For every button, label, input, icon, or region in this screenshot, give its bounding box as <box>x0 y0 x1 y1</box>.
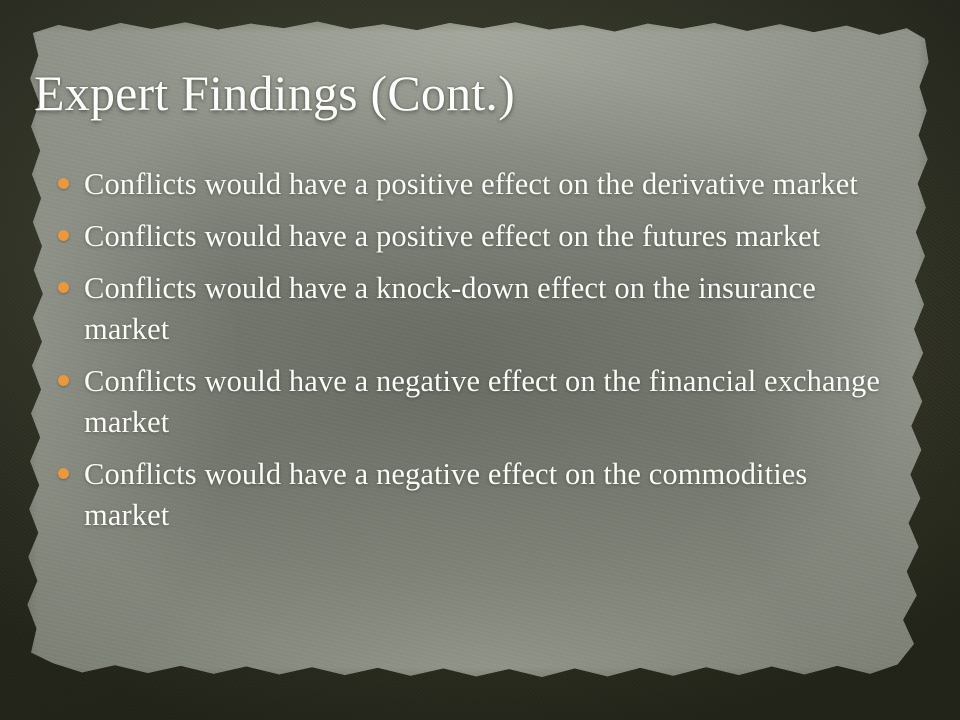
list-item: Conflicts would have a negative effect o… <box>40 454 920 536</box>
bullet-dot-icon <box>58 375 69 386</box>
presentation-slide: Expert Findings (Cont.) Conflicts would … <box>0 0 960 720</box>
slide-content: Expert Findings (Cont.) Conflicts would … <box>0 0 960 720</box>
list-item-label: Conflicts would have a knock-down effect… <box>84 268 894 350</box>
list-item-label: Conflicts would have a positive effect o… <box>84 164 894 205</box>
bullet-dot-icon <box>58 468 69 479</box>
bullet-dot-icon <box>58 178 69 189</box>
bullet-dot-icon <box>58 282 69 293</box>
list-item: Conflicts would have a positive effect o… <box>40 164 920 205</box>
list-item: Conflicts would have a positive effect o… <box>40 216 920 257</box>
bullet-dot-icon <box>58 230 69 241</box>
list-item: Conflicts would have a negative effect o… <box>40 361 920 443</box>
list-item-label: Conflicts would have a negative effect o… <box>84 454 894 536</box>
list-item: Conflicts would have a knock-down effect… <box>40 268 920 350</box>
list-item-label: Conflicts would have a positive effect o… <box>84 216 894 257</box>
list-item-label: Conflicts would have a negative effect o… <box>84 361 894 443</box>
slide-title: Expert Findings (Cont.) <box>34 64 834 122</box>
bullet-list: Conflicts would have a positive effect o… <box>40 164 920 547</box>
